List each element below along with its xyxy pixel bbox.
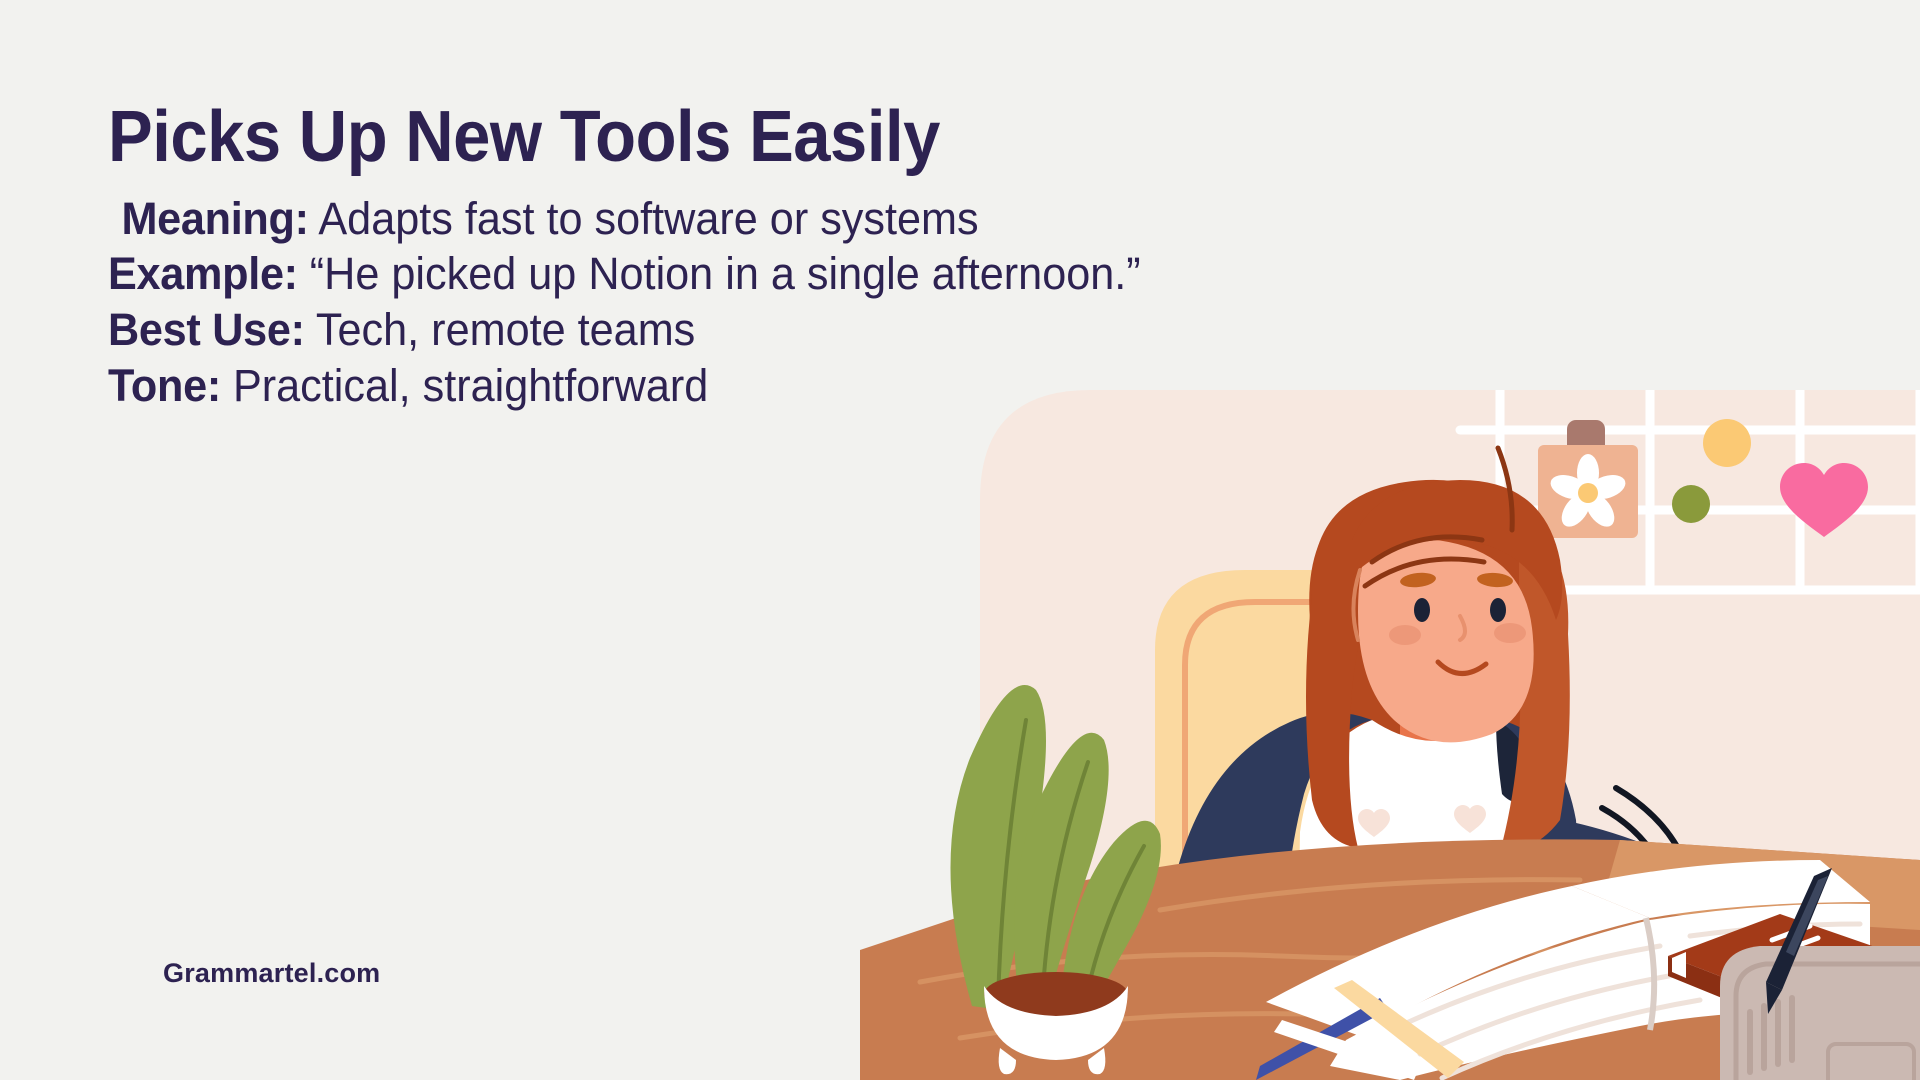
detail-row-example: Example: “He picked up Notion in a singl…: [108, 246, 1471, 302]
laptop: [1720, 946, 1920, 1080]
desk-illustration: [860, 390, 1920, 1080]
detail-value-meaning: Adapts fast to software or systems: [318, 193, 978, 244]
detail-value-tone: Practical, straightforward: [233, 360, 708, 411]
brand-watermark: Grammartel.com: [163, 958, 380, 989]
cheek-left: [1389, 625, 1421, 645]
pinboard-dot-yellow: [1703, 419, 1751, 467]
pinboard-dot-olive: [1672, 485, 1710, 523]
detail-label-best-use: Best Use:: [108, 304, 305, 355]
eye-left: [1414, 598, 1430, 622]
page-title: Picks Up New Tools Easily: [108, 102, 1429, 173]
detail-row-best-use: Best Use: Tech, remote teams: [108, 302, 1471, 358]
cheek-right: [1494, 623, 1526, 643]
eye-right: [1490, 598, 1506, 622]
detail-label-meaning: Meaning:: [121, 193, 308, 244]
detail-value-best-use: Tech, remote teams: [316, 304, 695, 355]
detail-label-example: Example:: [108, 248, 298, 299]
detail-label-tone: Tone:: [108, 360, 221, 411]
text-content-block: Picks Up New Tools Easily Meaning: Adapt…: [108, 102, 1528, 414]
detail-row-meaning: Meaning: Adapts fast to software or syst…: [108, 191, 1471, 247]
detail-list: Meaning: Adapts fast to software or syst…: [108, 191, 1528, 414]
detail-value-example: “He picked up Notion in a single afterno…: [310, 248, 1141, 299]
detail-row-tone: Tone: Practical, straightforward: [108, 358, 1471, 414]
